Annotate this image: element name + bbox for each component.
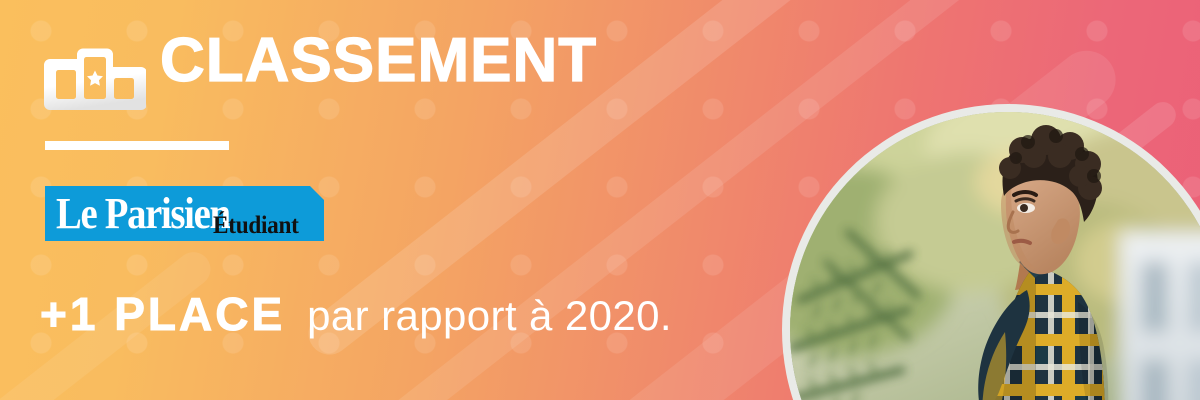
photo-ring	[782, 104, 1200, 400]
podium-icon	[44, 48, 146, 110]
le-parisien-etudiant-logo: Le Parisien Étudiant	[45, 186, 324, 241]
banner-content: CLASSEMENT Le Parisien Étudiant +1 PLACE…	[0, 0, 760, 400]
logo-subbrand-text: Étudiant	[213, 213, 299, 239]
student-photo	[790, 112, 1200, 400]
tagline-highlight: +1 PLACE	[40, 288, 285, 340]
tagline: +1 PLACE par rapport à 2020.	[40, 288, 672, 342]
ranking-banner: CLASSEMENT Le Parisien Étudiant +1 PLACE…	[0, 0, 1200, 400]
title-divider	[45, 141, 229, 150]
tagline-rest: par rapport à 2020.	[307, 290, 672, 342]
logo-brand-text: Le Parisien	[56, 190, 230, 237]
page-title: CLASSEMENT	[160, 28, 597, 94]
